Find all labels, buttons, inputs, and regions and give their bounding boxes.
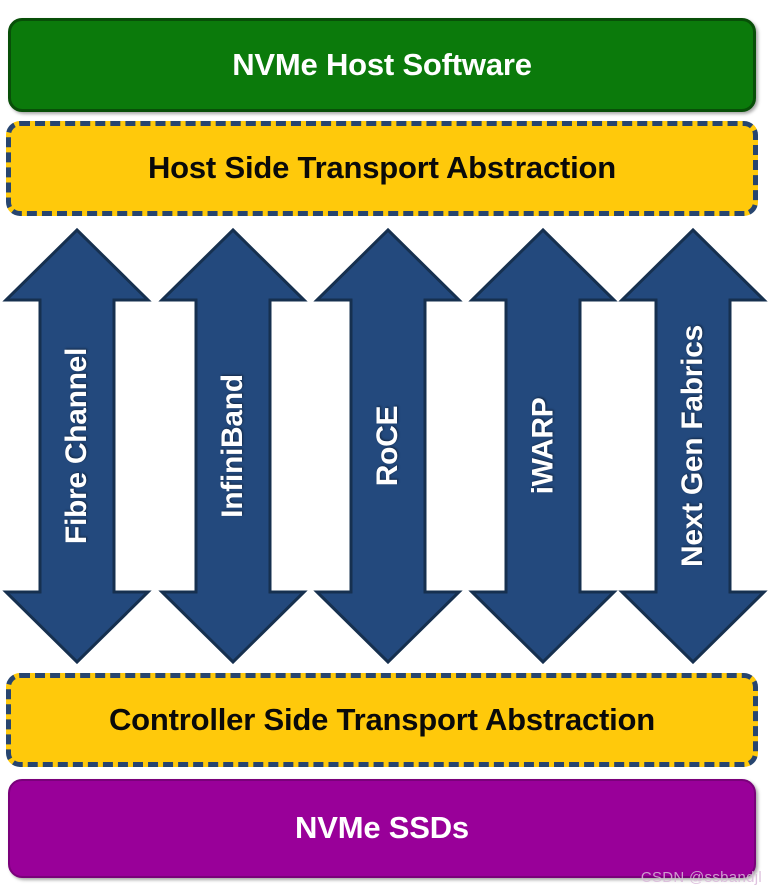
- transport-arrow-band: Fibre Channel InfiniBand RoCE iW: [0, 226, 774, 666]
- transport-arrow-fibre-channel: Fibre Channel: [2, 226, 152, 666]
- transport-arrow-roce: RoCE: [313, 226, 463, 666]
- layer-nvme-ssds-label: NVMe SSDs: [295, 812, 469, 845]
- transport-arrow-infiniband: InfiniBand: [158, 226, 308, 666]
- transport-arrow-next-gen-fabrics: Next Gen Fabrics: [618, 226, 768, 666]
- double-headed-vertical-arrow-icon: [158, 226, 308, 666]
- layer-controller-side-transport-abstraction: Controller Side Transport Abstraction: [6, 673, 758, 767]
- double-headed-vertical-arrow-icon: [2, 226, 152, 666]
- layer-host-side-transport-abstraction: Host Side Transport Abstraction: [6, 121, 758, 216]
- layer-nvme-host-software: NVMe Host Software: [8, 18, 756, 112]
- layer-host-side-transport-abstraction-label: Host Side Transport Abstraction: [148, 152, 616, 185]
- double-headed-vertical-arrow-icon: [313, 226, 463, 666]
- layer-nvme-ssds: NVMe SSDs: [8, 779, 756, 878]
- transport-arrow-iwarp: iWARP: [468, 226, 618, 666]
- nvme-fabrics-diagram: NVMe Host Software Host Side Transport A…: [0, 0, 774, 892]
- layer-controller-side-transport-abstraction-label: Controller Side Transport Abstraction: [109, 704, 655, 737]
- watermark-text: CSDN @ssbandjl: [641, 869, 762, 886]
- layer-nvme-host-software-label: NVMe Host Software: [232, 49, 532, 82]
- double-headed-vertical-arrow-icon: [618, 226, 768, 666]
- double-headed-vertical-arrow-icon: [468, 226, 618, 666]
